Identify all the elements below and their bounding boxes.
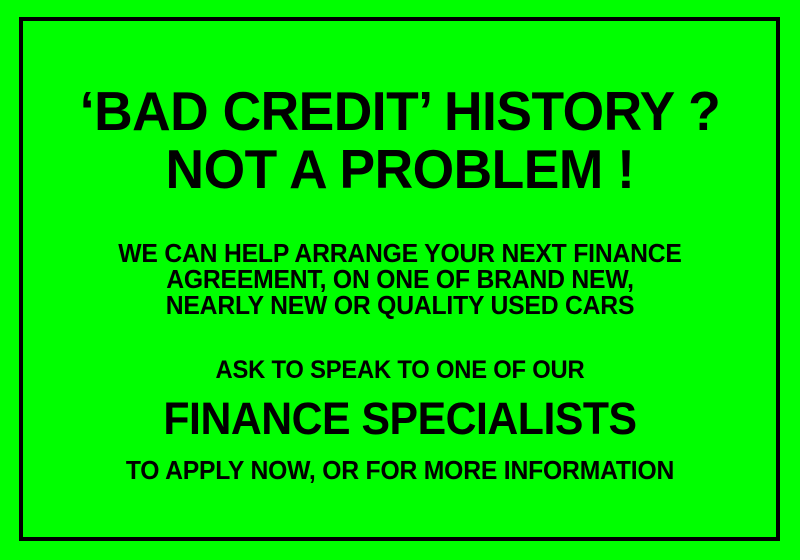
- apply-block: TO APPLY NOW, OR FOR MORE INFORMATION: [0, 457, 800, 483]
- apply-now-line: TO APPLY NOW, OR FOR MORE INFORMATION: [20, 457, 780, 483]
- finance-specialists-line: FINANCE SPECIALISTS: [20, 396, 780, 441]
- poster-content: ‘BAD CREDIT’ HISTORY ? NOT A PROBLEM ! W…: [0, 0, 800, 560]
- headline-line-1: ‘BAD CREDIT’ HISTORY ?: [12, 82, 788, 140]
- body-line-2: AGREEMENT, ON ONE OF BRAND NEW,: [20, 266, 780, 292]
- ask-block: ASK TO SPEAK TO ONE OF OUR: [0, 358, 800, 383]
- headline-block: ‘BAD CREDIT’ HISTORY ? NOT A PROBLEM !: [0, 82, 800, 198]
- body-line-3: NEARLY NEW OR QUALITY USED CARS: [20, 292, 780, 318]
- headline-line-2: NOT A PROBLEM !: [12, 140, 788, 198]
- advertisement-poster: ‘BAD CREDIT’ HISTORY ? NOT A PROBLEM ! W…: [0, 0, 800, 560]
- specialists-block: FINANCE SPECIALISTS: [0, 396, 800, 441]
- body-line-1: WE CAN HELP ARRANGE YOUR NEXT FINANCE: [20, 240, 780, 266]
- body-paragraph-block: WE CAN HELP ARRANGE YOUR NEXT FINANCE AG…: [0, 240, 800, 318]
- ask-to-speak-line: ASK TO SPEAK TO ONE OF OUR: [20, 358, 780, 383]
